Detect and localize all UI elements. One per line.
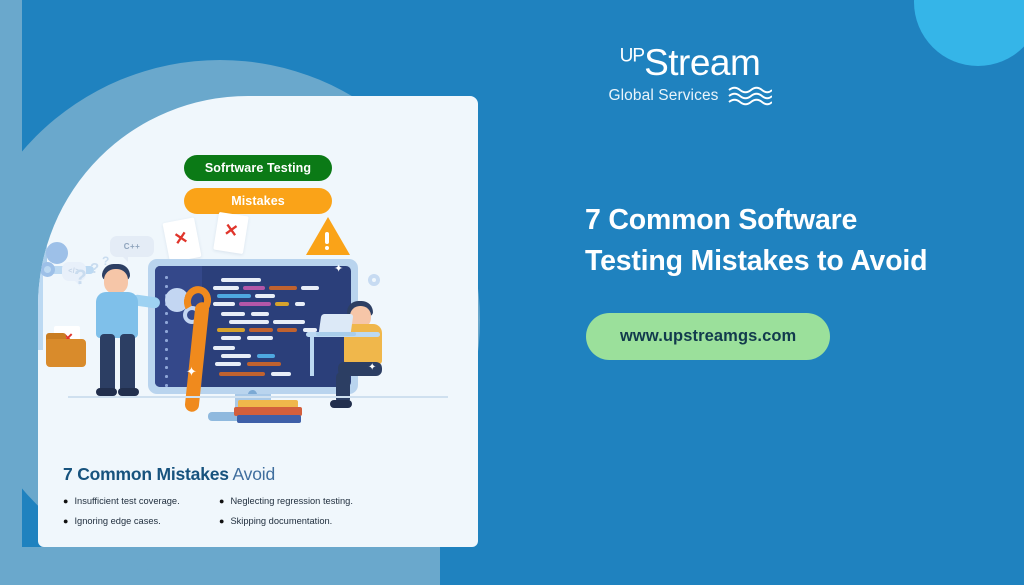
card-text-block: 7 Common Mistakes Avoid ● Insufficient t… <box>63 464 463 528</box>
bullet-icon: ● <box>219 496 224 507</box>
list-item-label: Insufficient test coverage. <box>74 496 179 506</box>
wave-icon <box>728 85 772 107</box>
gear-icon <box>46 242 68 264</box>
testing-illustration: C++ </> </> < HTML > ? ? ? ✕ ✕ ✕ <box>38 214 478 434</box>
laptop-screen <box>319 314 354 334</box>
badge-software-testing: Sofrtware Testing <box>184 155 332 181</box>
brand-tagline-row: Global Services <box>575 85 805 107</box>
person-standing-shoe <box>118 388 139 396</box>
chair-back <box>38 214 47 266</box>
warning-exclamation-dot <box>325 246 329 250</box>
chair-leg <box>38 274 43 312</box>
brand-name-main: Stream <box>644 42 760 83</box>
badge-mistakes: Mistakes <box>184 188 332 214</box>
bullet-icon: ● <box>219 516 224 527</box>
brand-name-prefix: U <box>620 46 633 67</box>
list-item: ● Ignoring edge cases. <box>63 516 213 527</box>
illustration-card: Sofrtware Testing Mistakes C++ </> </> <… <box>38 96 478 547</box>
top-right-circle-decoration <box>914 0 1024 66</box>
card-title-rest: Avoid <box>229 464 275 484</box>
list-item: ● Insufficient test coverage. <box>63 496 213 507</box>
brand-name: UPStream <box>575 44 805 81</box>
error-x-icon: ✕ <box>223 221 240 240</box>
page-title-line1: 7 Common Software <box>585 200 995 241</box>
person-standing-leg <box>120 334 135 392</box>
page-title-line2: Testing Mistakes to Avoid <box>585 241 995 282</box>
mistakes-list: ● Insufficient test coverage. ● Neglecti… <box>63 496 463 528</box>
bullet-icon: ● <box>63 496 68 507</box>
person-standing-body <box>96 292 138 338</box>
website-url-button[interactable]: www.upstreamgs.com <box>586 313 830 360</box>
floor-line <box>68 396 448 398</box>
list-item-label: Skipping documentation. <box>230 516 332 526</box>
sparkle-icon: ✦ <box>186 364 197 380</box>
brand-name-prefix-small: P <box>632 46 644 67</box>
person-standing-leg <box>100 334 115 392</box>
chair-leg <box>38 312 43 350</box>
sparkle-icon: ✦ <box>334 262 343 275</box>
question-mark-icon: ? <box>74 266 87 290</box>
warning-exclamation-icon <box>325 232 329 244</box>
brand-tagline: Global Services <box>608 87 718 105</box>
book-stack-item <box>237 415 301 423</box>
badge-group: Sofrtware Testing Mistakes <box>38 155 478 214</box>
list-item-label: Neglecting regression testing. <box>230 496 352 506</box>
gear-icon <box>368 274 380 286</box>
person-standing-shoe <box>96 388 117 396</box>
list-item: ● Skipping documentation. <box>219 516 463 527</box>
gear-icon <box>40 262 55 277</box>
desk-leg <box>310 336 314 376</box>
folder-icon <box>46 339 86 367</box>
brand-logo[interactable]: UPStream Global Services <box>575 44 805 107</box>
sparkle-icon: ✦ <box>368 362 376 373</box>
card-title: 7 Common Mistakes Avoid <box>63 464 463 485</box>
code-bubble-cpp: C++ <box>110 236 154 257</box>
page-title: 7 Common Software Testing Mistakes to Av… <box>585 200 995 282</box>
error-x-icon: ✕ <box>173 229 190 248</box>
laptop-base <box>316 332 356 336</box>
card-title-bold: 7 Common Mistakes <box>63 464 229 484</box>
person-seated-shoe <box>330 400 352 408</box>
question-mark-icon: ? <box>90 260 99 277</box>
person-standing-head <box>104 269 128 294</box>
list-item: ● Neglecting regression testing. <box>219 496 463 507</box>
bullet-icon: ● <box>63 516 68 527</box>
list-item-label: Ignoring edge cases. <box>74 516 160 526</box>
